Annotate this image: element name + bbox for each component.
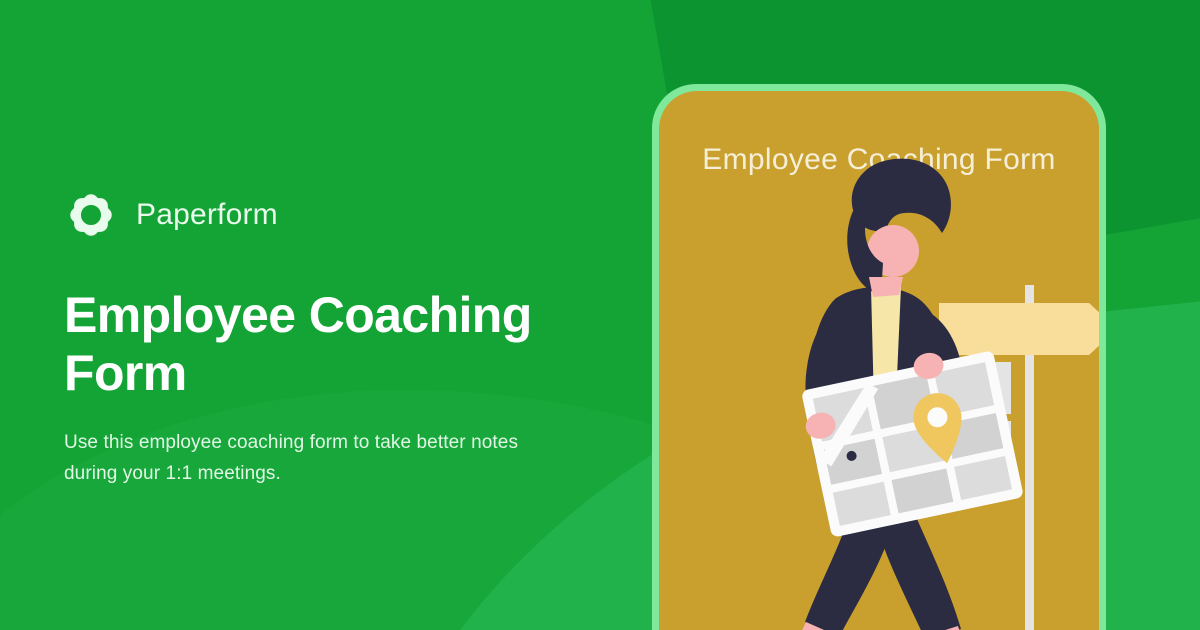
person-holding-map-with-signpost-illustration — [659, 91, 1099, 630]
form-preview-card-surface: Employee Coaching Form — [659, 91, 1099, 630]
paperform-flower-logo-icon — [64, 188, 118, 242]
page-title: Employee Coaching Form — [64, 286, 564, 402]
form-preview-card[interactable]: Employee Coaching Form — [652, 84, 1106, 630]
hero-content: Paperform Employee Coaching Form Use thi… — [64, 188, 624, 490]
og-card-canvas: Paperform Employee Coaching Form Use thi… — [0, 0, 1200, 630]
brand-name: Paperform — [136, 200, 278, 230]
page-subtitle: Use this employee coaching form to take … — [64, 428, 554, 490]
brand-lockup[interactable]: Paperform — [64, 188, 624, 242]
